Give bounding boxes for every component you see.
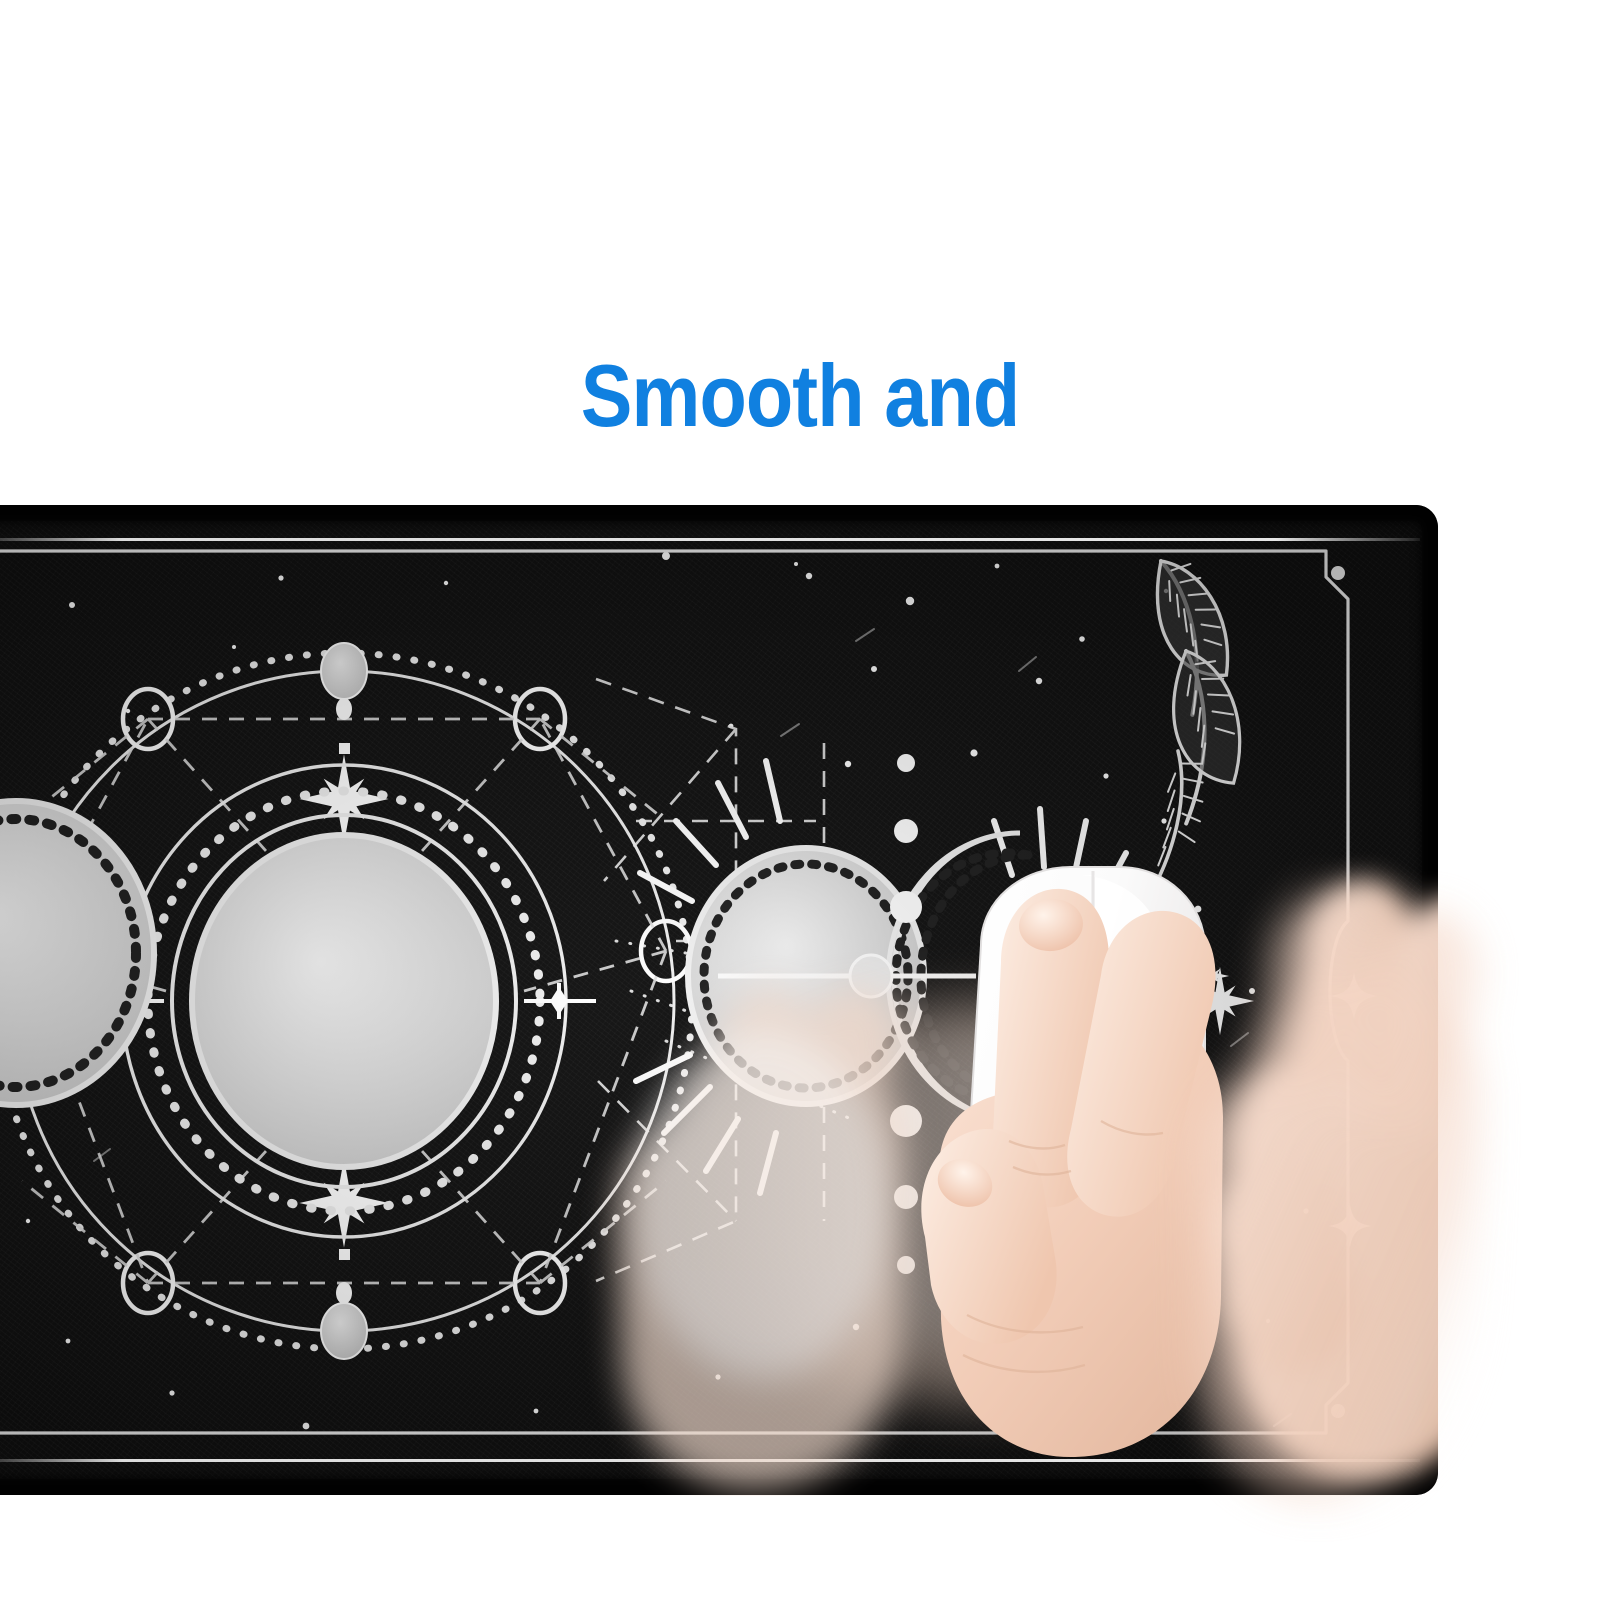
- motion-blur-hand-outside: [1180, 880, 1600, 1520]
- headline-line-1: Smooth and: [96, 347, 1504, 446]
- edge-highlight-top: [0, 538, 1420, 541]
- marketing-image: Smooth and Accurate Mouse Movement: [0, 0, 1600, 1600]
